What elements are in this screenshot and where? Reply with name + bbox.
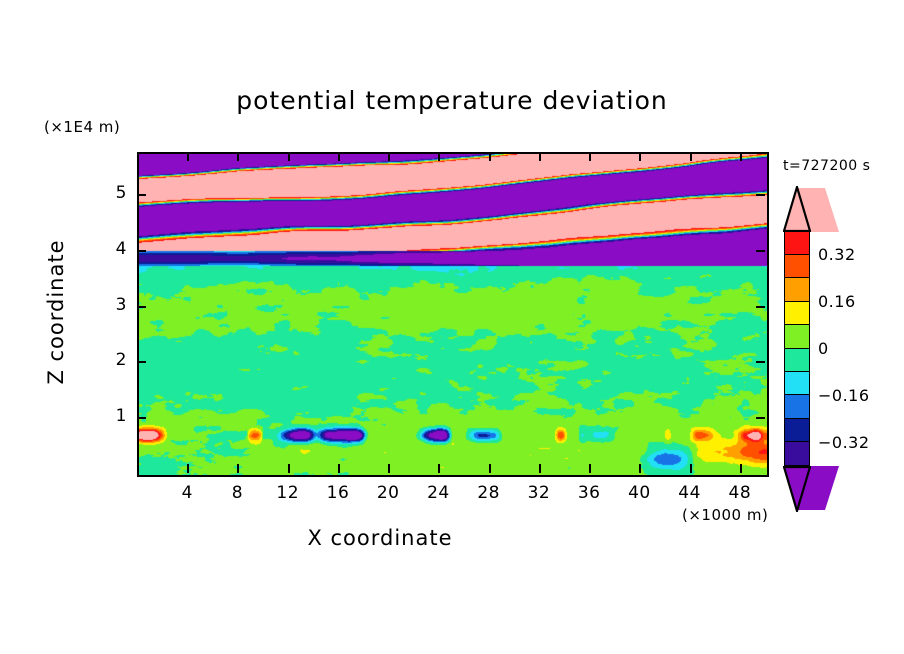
y-axis-unit-label: (×1E4 m): [44, 118, 120, 136]
colorbar-band: [784, 348, 810, 373]
x-tick-label: 12: [268, 483, 308, 503]
colorbar-tick-label: −0.32: [818, 433, 870, 452]
colorbar-tick-label: 0.32: [818, 245, 856, 264]
colorbar-band: [784, 277, 810, 302]
colorbar-tick-label: −0.16: [818, 386, 870, 405]
x-tick-top: [338, 152, 340, 161]
x-tick: [438, 464, 440, 473]
colorbar-band: [784, 231, 810, 256]
x-tick-label: 24: [418, 483, 458, 503]
x-tick: [539, 464, 541, 473]
colorbar: 0.320.160−0.16−0.32: [784, 232, 810, 466]
y-tick: [137, 417, 146, 419]
x-tick: [639, 464, 641, 473]
x-axis-label: X coordinate: [0, 526, 760, 550]
x-tick: [288, 464, 290, 473]
x-tick: [338, 464, 340, 473]
colorbar-band: [784, 301, 810, 326]
y-tick: [137, 194, 146, 196]
x-tick-top: [438, 152, 440, 161]
x-tick: [388, 464, 390, 473]
y-tick-right: [756, 194, 765, 196]
y-tick-right: [756, 306, 765, 308]
colorbar-over-arrow-outline: [783, 186, 811, 232]
x-tick-label: 4: [167, 483, 207, 503]
x-tick-top: [288, 152, 290, 161]
colorbar-band: [784, 394, 810, 419]
x-tick-top: [740, 152, 742, 161]
x-tick-top: [388, 152, 390, 161]
y-tick: [137, 361, 146, 363]
x-tick-label: 48: [720, 483, 760, 503]
y-tick-label: 1: [97, 406, 127, 426]
x-tick: [740, 464, 742, 473]
y-tick-label: 5: [97, 183, 127, 203]
y-tick-label: 3: [97, 295, 127, 315]
x-axis-unit-label: (×1000 m): [682, 506, 768, 524]
contour-field: [139, 154, 767, 475]
y-tick: [137, 250, 146, 252]
contour-plot-area: [137, 152, 769, 477]
colorbar-band: [784, 324, 810, 349]
x-tick: [489, 464, 491, 473]
chart-title: potential temperature deviation: [0, 86, 904, 115]
colorbar-band: [784, 254, 810, 279]
x-tick-top: [187, 152, 189, 161]
y-tick: [137, 306, 146, 308]
y-tick-right: [756, 417, 765, 419]
colorbar-band: [784, 418, 810, 443]
x-tick-top: [489, 152, 491, 161]
colorbar-band: [784, 441, 810, 466]
y-tick-label: 2: [97, 350, 127, 370]
x-tick: [690, 464, 692, 473]
x-tick-label: 36: [569, 483, 609, 503]
x-tick-label: 32: [519, 483, 559, 503]
colorbar-tick-label: 0.16: [818, 292, 856, 311]
x-tick: [589, 464, 591, 473]
x-tick: [187, 464, 189, 473]
colorbar-band: [784, 371, 810, 396]
x-tick-label: 16: [318, 483, 358, 503]
y-tick-right: [756, 361, 765, 363]
x-tick-label: 40: [619, 483, 659, 503]
x-tick-label: 20: [368, 483, 408, 503]
y-axis-label: Z coordinate: [44, 212, 68, 412]
x-tick-label: 8: [217, 483, 257, 503]
x-tick-label: 44: [670, 483, 710, 503]
y-tick-right: [756, 250, 765, 252]
x-tick-top: [639, 152, 641, 161]
colorbar-tick-label: 0: [818, 339, 829, 358]
x-tick-top: [237, 152, 239, 161]
y-tick-label: 4: [97, 239, 127, 259]
x-tick: [237, 464, 239, 473]
x-tick-top: [690, 152, 692, 161]
x-tick-top: [539, 152, 541, 161]
x-tick-label: 28: [469, 483, 509, 503]
x-tick-top: [589, 152, 591, 161]
colorbar-under-arrow-outline: [783, 466, 811, 512]
timestamp-label: t=727200 s: [783, 158, 870, 174]
